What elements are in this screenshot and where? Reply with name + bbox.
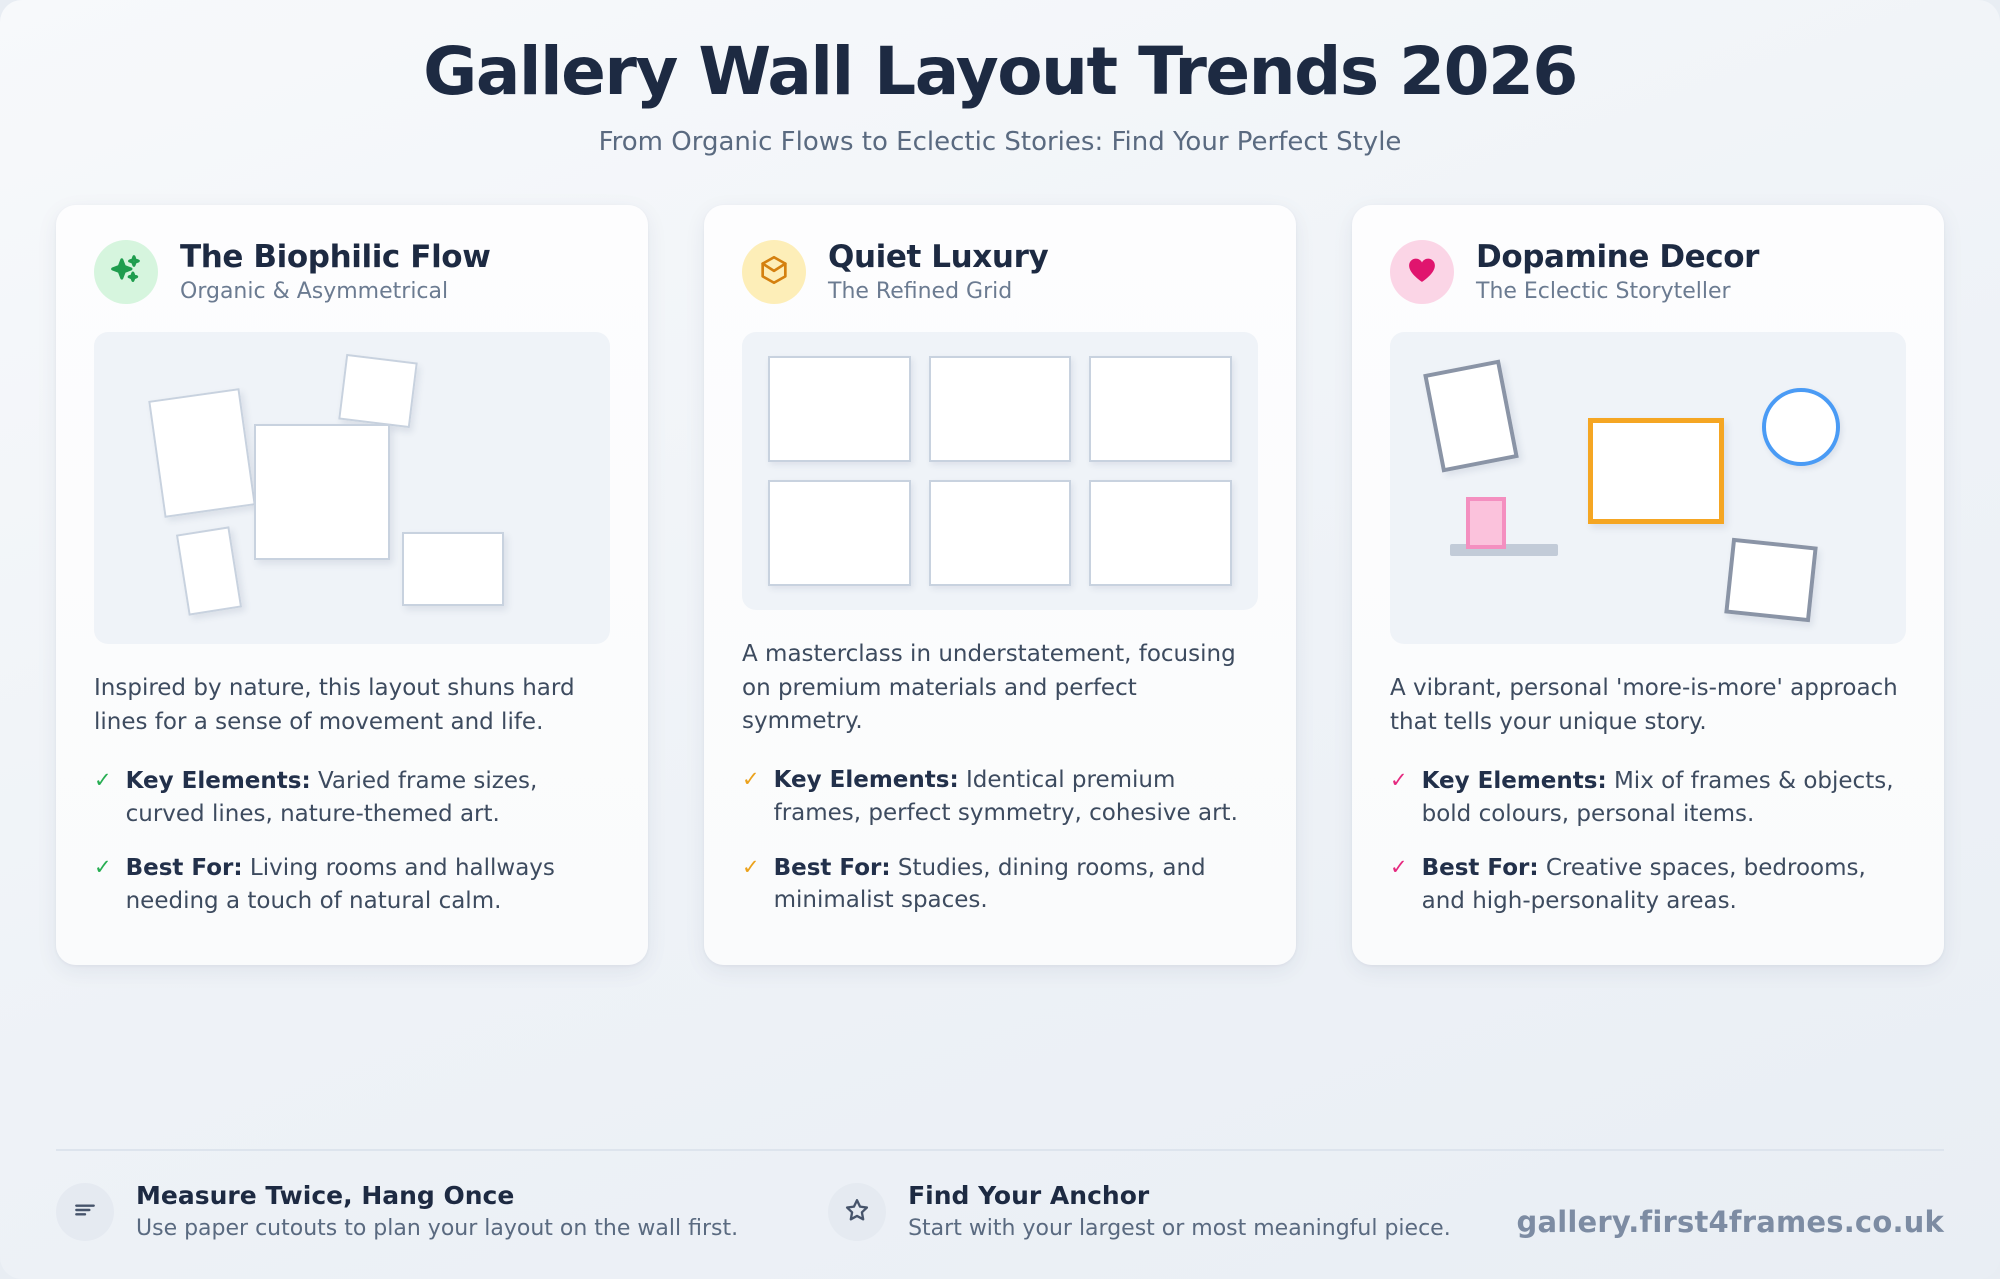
bullet-label: Key Elements: [1422,768,1607,794]
bullet-label: Key Elements: [774,767,959,793]
bullet-text: Key Elements: Identical premium frames, … [774,764,1258,829]
grid-frame [1089,356,1232,462]
trend-cards-row: The Biophilic Flow Organic & Asymmetrica… [0,157,2000,965]
trend-card-biophilic-flow[interactable]: The Biophilic Flow Organic & Asymmetrica… [56,205,648,965]
card-heading-text: The Biophilic Flow Organic & Asymmetrica… [180,239,490,304]
bullet-text: Key Elements: Varied frame sizes, curved… [126,765,610,830]
star-icon-badge [828,1183,886,1241]
frame-tilted-topleft [1423,360,1519,473]
infographic-page: Gallery Wall Layout Trends 2026 From Org… [0,0,2000,1279]
frame-orange-accent [1588,418,1724,524]
bullet-best-for: ✓ Best For: Studies, dining rooms, and m… [742,852,1258,917]
frame-tilted-bottomright [1724,538,1817,623]
frame-bottomright [402,532,504,606]
bullet-key-elements: ✓ Key Elements: Identical premium frames… [742,764,1258,829]
card-bullets: ✓ Key Elements: Varied frame sizes, curv… [94,765,610,918]
grid-frame [929,480,1072,586]
bullet-label: Best For: [774,855,891,881]
card-description: A masterclass in understatement, focusin… [742,638,1258,738]
card-header: The Biophilic Flow Organic & Asymmetrica… [94,239,610,304]
tip-title: Measure Twice, Hang Once [136,1181,738,1210]
six-up-grid [768,356,1232,586]
card-header: Dopamine Decor The Eclectic Storyteller [1390,239,1906,304]
bullet-text: Best For: Creative spaces, bedrooms, and… [1422,852,1906,917]
grid-frame [1089,480,1232,586]
frame-tilted-left [148,388,256,518]
ruler-lines-icon-badge [56,1183,114,1241]
card-description: A vibrant, personal 'more-is-more' appro… [1390,672,1906,739]
card-subtitle: The Refined Grid [828,279,1048,304]
site-url[interactable]: gallery.first4frames.co.uk [1516,1205,1944,1239]
card-title: Dopamine Decor [1476,239,1759,275]
check-icon: ✓ [742,764,760,829]
page-subtitle: From Organic Flows to Eclectic Stories: … [0,127,2000,157]
tip-description: Start with your largest or most meaningf… [908,1216,1451,1241]
check-icon: ✓ [742,852,760,917]
bullet-label: Best For: [1422,855,1539,881]
tip-description: Use paper cutouts to plan your layout on… [136,1216,738,1241]
check-icon: ✓ [1390,852,1408,917]
card-description: Inspired by nature, this layout shuns ha… [94,672,610,739]
layout-diagram-organic [94,332,610,644]
star-icon [843,1196,871,1228]
bullet-label: Best For: [126,855,243,881]
bullet-key-elements: ✓ Key Elements: Varied frame sizes, curv… [94,765,610,830]
card-title: The Biophilic Flow [180,239,490,275]
layout-diagram-grid [742,332,1258,610]
sparkles-icon [108,252,144,292]
circle-frame-blue [1762,388,1840,466]
bullet-label: Key Elements: [126,768,311,794]
heart-icon-badge [1390,240,1454,304]
bullet-text: Key Elements: Mix of frames & objects, b… [1422,765,1906,830]
grid-frame [768,356,911,462]
pink-object [1466,497,1506,549]
bullet-key-elements: ✓ Key Elements: Mix of frames & objects,… [1390,765,1906,830]
card-subtitle: Organic & Asymmetrical [180,279,490,304]
check-icon: ✓ [1390,765,1408,830]
frame-center-large [254,424,390,560]
check-icon: ✓ [94,852,112,917]
layout-diagram-eclectic [1390,332,1906,644]
grid-frame [768,480,911,586]
card-heading-text: Quiet Luxury The Refined Grid [828,239,1048,304]
tip-title: Find Your Anchor [908,1181,1451,1210]
bullet-text: Best For: Living rooms and hallways need… [126,852,610,917]
card-bullets: ✓ Key Elements: Identical premium frames… [742,764,1258,917]
card-subtitle: The Eclectic Storyteller [1476,279,1759,304]
bullet-best-for: ✓ Best For: Living rooms and hallways ne… [94,852,610,917]
frame-small-bottomleft [176,527,242,616]
bullet-text: Best For: Studies, dining rooms, and min… [774,852,1258,917]
tip-text: Find Your Anchor Start with your largest… [908,1181,1451,1241]
bullet-best-for: ✓ Best For: Creative spaces, bedrooms, a… [1390,852,1906,917]
card-header: Quiet Luxury The Refined Grid [742,239,1258,304]
card-bullets: ✓ Key Elements: Mix of frames & objects,… [1390,765,1906,918]
tip-find-your-anchor: Find Your Anchor Start with your largest… [828,1181,1451,1241]
box-icon [757,253,791,291]
check-icon: ✓ [94,765,112,830]
trend-card-dopamine-decor[interactable]: Dopamine Decor The Eclectic Storyteller … [1352,205,1944,965]
card-title: Quiet Luxury [828,239,1048,275]
tip-text: Measure Twice, Hang Once Use paper cutou… [136,1181,738,1241]
ruler-lines-icon [72,1197,98,1227]
card-heading-text: Dopamine Decor The Eclectic Storyteller [1476,239,1759,304]
box-icon-badge [742,240,806,304]
page-header: Gallery Wall Layout Trends 2026 From Org… [0,0,2000,157]
heart-icon [1405,253,1439,291]
frame-tilted-topright [338,354,418,428]
tip-measure-twice: Measure Twice, Hang Once Use paper cutou… [56,1181,738,1241]
trend-card-quiet-luxury[interactable]: Quiet Luxury The Refined Grid A mastercl… [704,205,1296,965]
grid-frame [929,356,1072,462]
page-title: Gallery Wall Layout Trends 2026 [0,36,2000,107]
sparkles-icon-badge [94,240,158,304]
